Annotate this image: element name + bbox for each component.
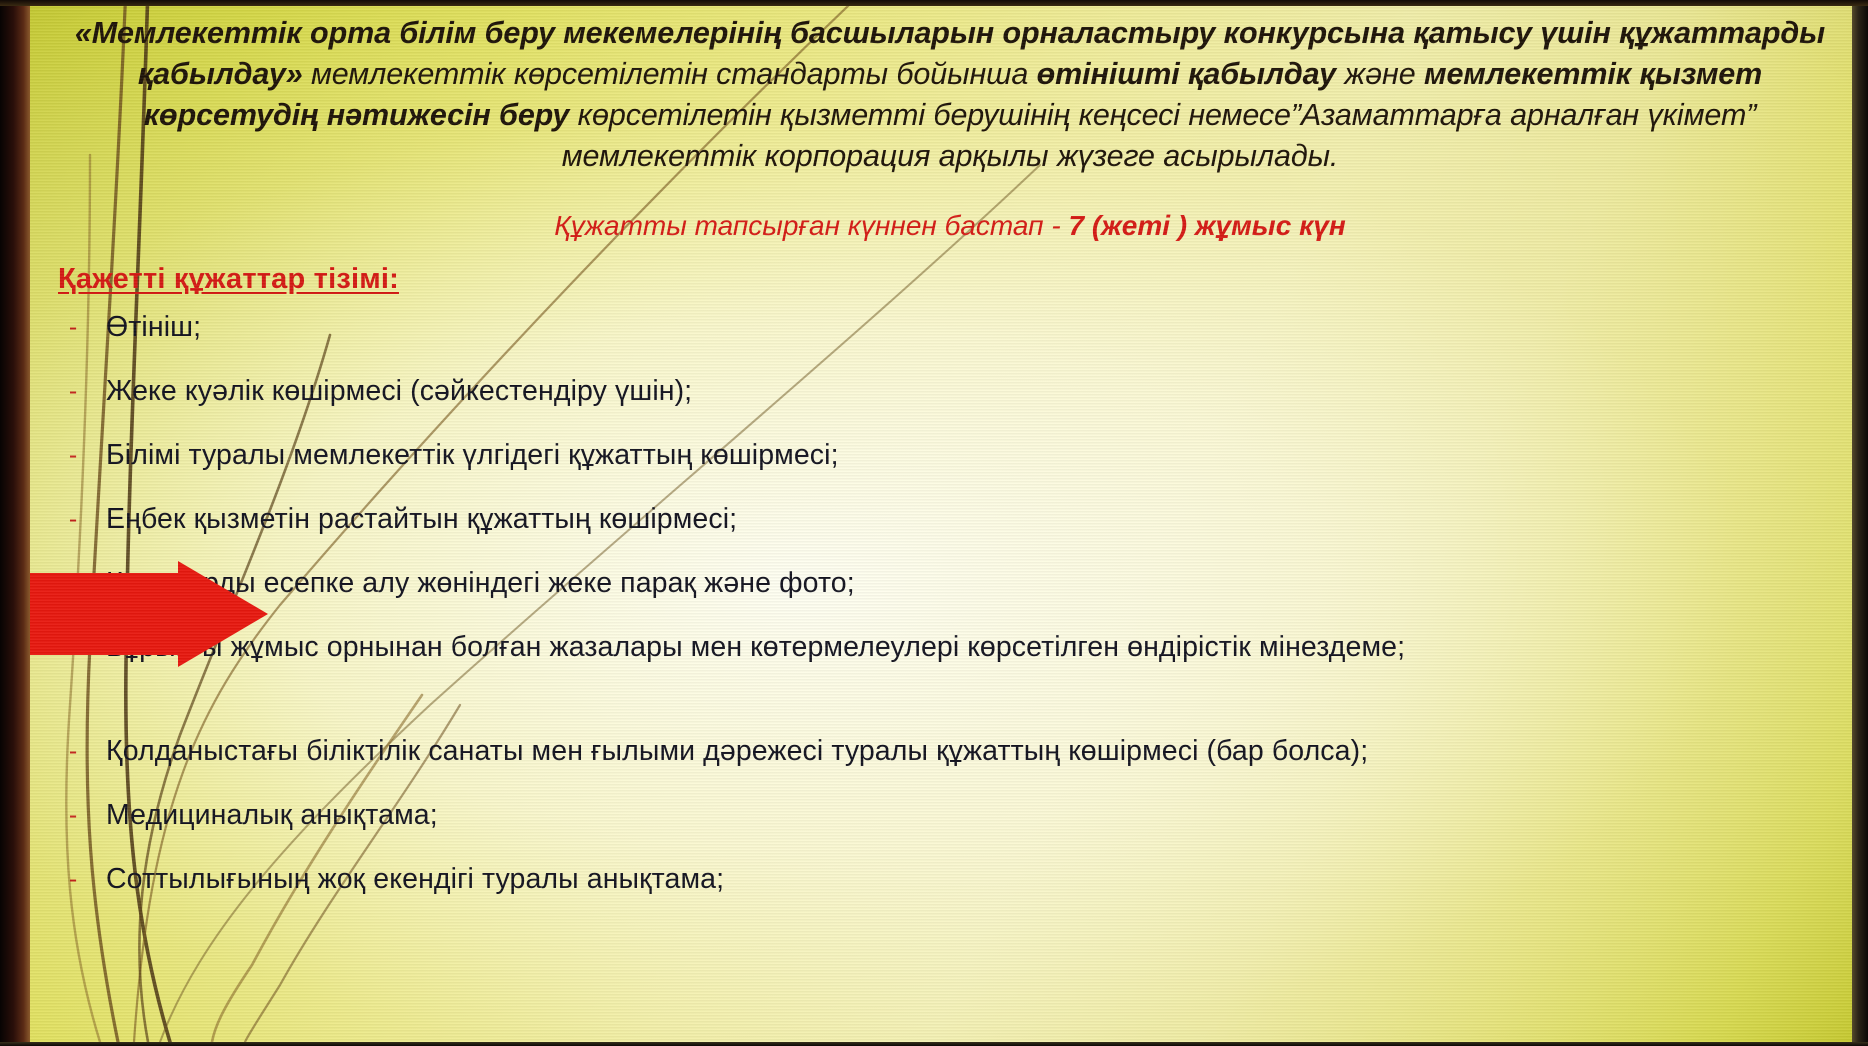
list-item: - Еңбек қызметін растайтын құжаттың көші… [40, 497, 1840, 561]
bullet-dash: - [40, 729, 106, 773]
bullet-dash: - [40, 433, 106, 477]
red-arrow-annotation [30, 561, 268, 667]
bullet-dash: - [40, 857, 106, 901]
bullet-dash: - [40, 497, 106, 541]
list-item: - Бұрынғы жұмыс орнынан болған жазалары … [40, 625, 1840, 729]
slide-photo: «Мемлекеттік орта білім беру мекемелерін… [0, 0, 1868, 1046]
bullet-dash: - [40, 793, 106, 837]
header-segment-2: мемлекеттік көрсетілетін стандарты бойын… [303, 57, 1037, 91]
header-segment-4: және [1336, 57, 1424, 91]
required-documents-list: - Өтініш; - Жеке куәлік көшірмесі (сәйке… [40, 305, 1840, 921]
list-item-label: Жеке куәлік көшірмесі (сәйкестендіру үші… [106, 369, 1840, 413]
list-item-label: Білімі туралы мемлекеттік үлгідегі құжат… [106, 433, 1840, 477]
bullet-dash: - [40, 369, 106, 413]
bullet-dash: - [40, 305, 106, 349]
required-documents-title: Қажетті құжаттар тізімі: [58, 263, 399, 296]
photo-left-border [0, 0, 30, 1046]
list-item: - Білімі туралы мемлекеттік үлгідегі құж… [40, 433, 1840, 497]
list-item: - Өтініш; [40, 305, 1840, 369]
photo-bottom-border [0, 1042, 1868, 1046]
deadline-value: 7 (жеті ) жұмыс күн [1068, 210, 1345, 241]
list-item-label: Кадрларды есепке алу жөніндегі жеке пара… [106, 561, 1840, 605]
photo-top-border [0, 0, 1868, 6]
list-item: - Кадрларды есепке алу жөніндегі жеке па… [40, 561, 1840, 625]
list-item: - Медициналық анықтама; [40, 793, 1840, 857]
header-segment-6: көрсетілетін қызметті берушінің кеңсесі … [562, 98, 1757, 173]
list-item-label: Өтініш; [106, 305, 1840, 349]
list-item-label: Еңбек қызметін растайтын құжаттың көшірм… [106, 497, 1840, 541]
presentation-slide: «Мемлекеттік орта білім беру мекемелерін… [30, 5, 1852, 1042]
list-item: - Қолданыстағы біліктілік санаты мен ғыл… [40, 729, 1840, 793]
photo-right-border [1852, 0, 1868, 1046]
list-item-label: Медициналық анықтама; [106, 793, 1840, 837]
header-segment-3: өтінішті қабылдау [1037, 57, 1336, 91]
list-item: - Жеке куәлік көшірмесі (сәйкестендіру ү… [40, 369, 1840, 433]
slide-header-paragraph: «Мемлекеттік орта білім беру мекемелерін… [70, 13, 1830, 177]
list-item-label: Соттылығының жоқ екендігі туралы анықтам… [106, 857, 1840, 901]
list-item-label: Қолданыстағы біліктілік санаты мен ғылым… [106, 729, 1840, 773]
list-item: - Соттылығының жоқ екендігі туралы анықт… [40, 857, 1840, 921]
deadline-prefix: Құжатты тапсырған күннен бастап - [554, 210, 1068, 241]
list-item-label: Бұрынғы жұмыс орнынан болған жазалары ме… [106, 625, 1840, 669]
deadline-line: Құжатты тапсырған күннен бастап - 7 (жет… [70, 208, 1830, 244]
